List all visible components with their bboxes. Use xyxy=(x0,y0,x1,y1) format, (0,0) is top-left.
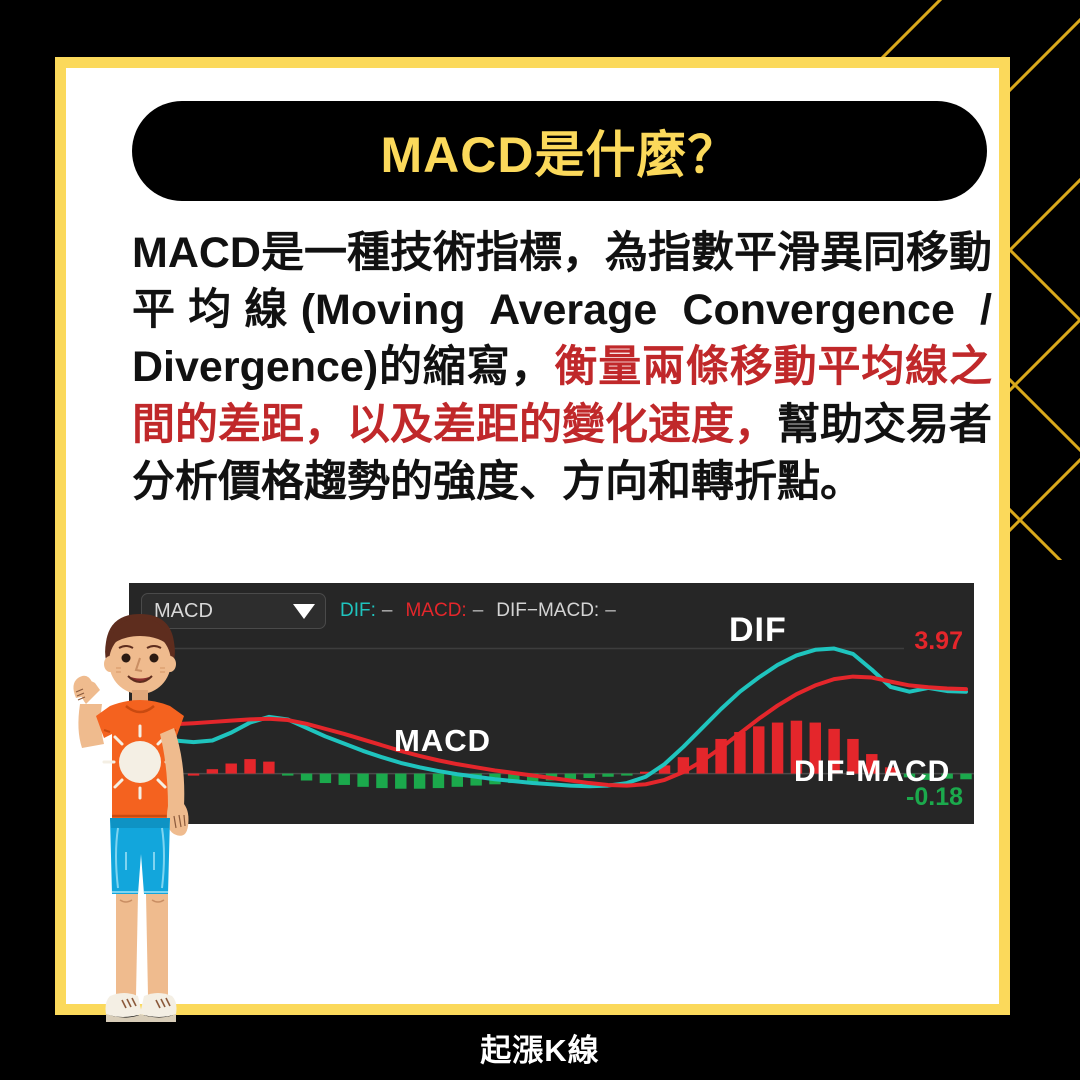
readout-hist-value: -0.18 xyxy=(906,783,963,812)
macd-chart-panel: MACD DIF: – MACD: – DIF−MACD: – DIF xyxy=(129,583,974,824)
legend-value-dif-macd: – xyxy=(605,600,616,622)
legend-item-dif-macd: DIF−MACD: – xyxy=(496,600,616,622)
legend-item-dif: DIF: – xyxy=(340,600,392,622)
legend-item-macd: MACD: – xyxy=(405,600,483,622)
body-paragraph: MACD是一種技術指標，為指數平滑異同移動平均線(Moving Average … xyxy=(132,225,992,511)
chart-toolbar: MACD DIF: – MACD: – DIF−MACD: – xyxy=(129,583,974,639)
legend-value-dif: – xyxy=(382,600,393,622)
page-title: MACD是什麼？ xyxy=(132,101,987,201)
macd-plot xyxy=(129,635,974,824)
readout-dif-value: 3.97 xyxy=(914,627,963,656)
avatar xyxy=(40,600,240,1040)
legend-label-dif: DIF: xyxy=(340,600,376,622)
annotation-macd: MACD xyxy=(394,723,491,759)
cartoon-person-pointing-up-icon xyxy=(40,600,240,1040)
chevron-down-icon xyxy=(293,604,315,619)
chart-legend: DIF: – MACD: – DIF−MACD: – xyxy=(340,600,616,622)
legend-label-macd: MACD: xyxy=(405,600,466,622)
legend-label-dif-macd: DIF−MACD: xyxy=(496,600,599,622)
brand-name: 起漲K線 xyxy=(480,1025,599,1070)
page-title-text: MACD是什麼？ xyxy=(381,115,739,187)
annotation-dif: DIF xyxy=(729,611,787,650)
legend-value-macd: – xyxy=(473,600,484,622)
